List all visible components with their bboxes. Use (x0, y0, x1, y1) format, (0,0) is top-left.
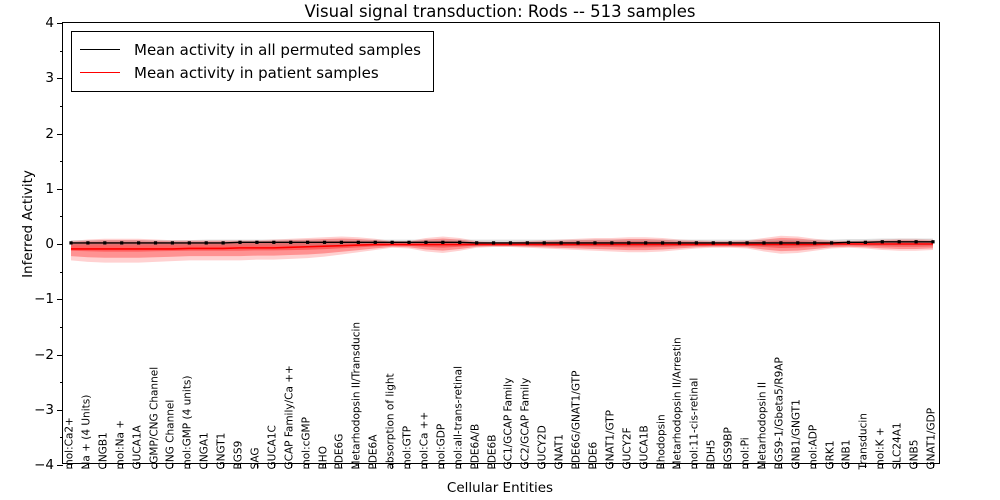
x-tick-label: Metarhodopsin II/Arrestin (673, 337, 684, 469)
y-tick-label: 0 (45, 236, 54, 252)
x-tick-label: PDE6A (369, 434, 380, 469)
y-tick-label: 4 (45, 15, 54, 31)
x-tick-label: GUCA1A (132, 425, 143, 469)
y-tick-label: 1 (45, 181, 54, 197)
x-tick-label: Metarhodopsin II/Transducin (352, 321, 363, 469)
x-tick-label: GUCA1C (267, 425, 278, 469)
x-tick-label: mol:all-trans-retinal (453, 365, 464, 469)
x-tick-label: PDE6A/B (470, 423, 481, 469)
x-tick-label: SLC24A1 (893, 422, 904, 469)
x-tick-label: Metarhodopsin II (757, 381, 768, 469)
x-tick-label: mol:Ca2+ (65, 417, 76, 469)
x-tick-label: CNGB1 (98, 432, 109, 469)
x-tick-label: absorption of light (386, 373, 397, 469)
x-tick-label: GRK1 (825, 440, 836, 469)
plot-area: −4−3−2−101234 mol:Ca2+Na + (4 Units)CNGB… (62, 22, 940, 464)
x-tick-label: GNB1 (842, 439, 853, 469)
x-tick-label: PDE6G/GNAT1/GTP (572, 370, 583, 469)
x-tick-label: GUCY2F (622, 427, 633, 469)
y-tick-label: −4 (34, 457, 54, 473)
x-tick-label: mol:11-cis-retinal (690, 377, 701, 469)
legend-line-swatch (80, 72, 120, 73)
y-tick (57, 134, 63, 135)
y-tick (57, 78, 63, 79)
y-tick (57, 299, 63, 300)
x-tick-label: mol:ADP (808, 424, 819, 469)
y-tick-minor (60, 51, 64, 52)
x-tick-label: CNG Channel (166, 399, 177, 469)
x-tick-label: GNGT1 (217, 432, 228, 469)
y-tick (57, 23, 63, 24)
x-tick-label: mol:GDP (436, 423, 447, 469)
x-tick-label: PDE6 (588, 441, 599, 469)
y-tick-minor (60, 382, 64, 383)
y-tick (57, 465, 63, 466)
y-tick-minor (60, 327, 64, 328)
x-tick-label: SAG (250, 447, 261, 469)
x-tick-label: Rhodopsin (656, 414, 667, 469)
y-tick-label: 2 (45, 126, 54, 142)
y-tick-minor (60, 272, 64, 273)
y-axis-label: Inferred Activity (20, 104, 36, 344)
x-tick-label: mol:cGMP (301, 417, 312, 469)
y-tick-label: −2 (34, 347, 54, 363)
x-tick-label: GNAT1/GTP (605, 410, 616, 470)
legend-label: Mean activity in patient samples (134, 64, 379, 82)
figure: Visual signal transduction: Rods -- 513 … (0, 0, 1000, 500)
x-tick-label: mol:K + (876, 427, 887, 469)
x-tick-label: PDE6B (487, 434, 498, 469)
x-tick-label: RGS9 (234, 440, 245, 469)
x-tick-label: mol:GTP (403, 425, 414, 469)
x-tick-label: mol:GMP (4 units) (183, 375, 194, 469)
x-tick-label: mol:Ca ++ (419, 411, 430, 469)
x-tick-label: GNB5 (910, 439, 921, 469)
y-tick-minor (60, 216, 64, 217)
legend-label: Mean activity in all permuted samples (134, 41, 421, 59)
y-tick (57, 355, 63, 356)
y-tick (57, 410, 63, 411)
x-tick-label: cGMP/CNG Channel (149, 366, 160, 469)
x-tick-label: PDE6G (335, 433, 346, 469)
x-tick-label: GNAT1 (555, 434, 566, 469)
y-tick-minor (60, 106, 64, 107)
y-tick-label: −3 (34, 402, 54, 418)
y-tick-minor (60, 161, 64, 162)
x-tick-label: GNB1/GNGT1 (791, 399, 802, 469)
legend-item: Mean activity in patient samples (80, 61, 421, 84)
y-tick-label: 3 (45, 70, 54, 86)
y-tick (57, 244, 63, 245)
x-tick-label: CNGA1 (200, 432, 211, 469)
x-tick-label: GUCA1B (639, 425, 650, 469)
x-tick-label: RDH5 (707, 439, 718, 469)
y-tick-minor (60, 437, 64, 438)
chart-legend: Mean activity in all permuted samplesMea… (71, 31, 434, 92)
x-tick-label: GUCY2D (538, 425, 549, 469)
x-tick-label: RHO (318, 446, 329, 469)
x-tick-label: GC1/GCAP Family (504, 377, 515, 469)
x-tick-label: GCAP Family/Ca ++ (284, 365, 295, 469)
y-tick (57, 189, 63, 190)
chart-title: Visual signal transduction: Rods -- 513 … (0, 2, 1000, 21)
legend-item: Mean activity in all permuted samples (80, 38, 421, 61)
x-tick-label: Na + (4 Units) (81, 394, 92, 469)
x-axis-label: Cellular Entities (0, 480, 1000, 496)
confidence-bands (71, 236, 933, 263)
x-tick-label: GNAT1/GDP (927, 407, 938, 469)
x-tick-label: GC2/GCAP Family (521, 377, 532, 469)
y-tick-label: −1 (34, 291, 54, 307)
x-tick-label: Transducin (859, 413, 870, 469)
x-tick-label: RGS9-1/Gbeta5/R9AP (774, 357, 785, 469)
legend-line-swatch (80, 49, 120, 50)
x-tick-label: RGS9BP (724, 427, 735, 469)
x-tick-label: mol:Na + (115, 419, 126, 469)
x-tick-label: mol:Pi (741, 437, 752, 469)
